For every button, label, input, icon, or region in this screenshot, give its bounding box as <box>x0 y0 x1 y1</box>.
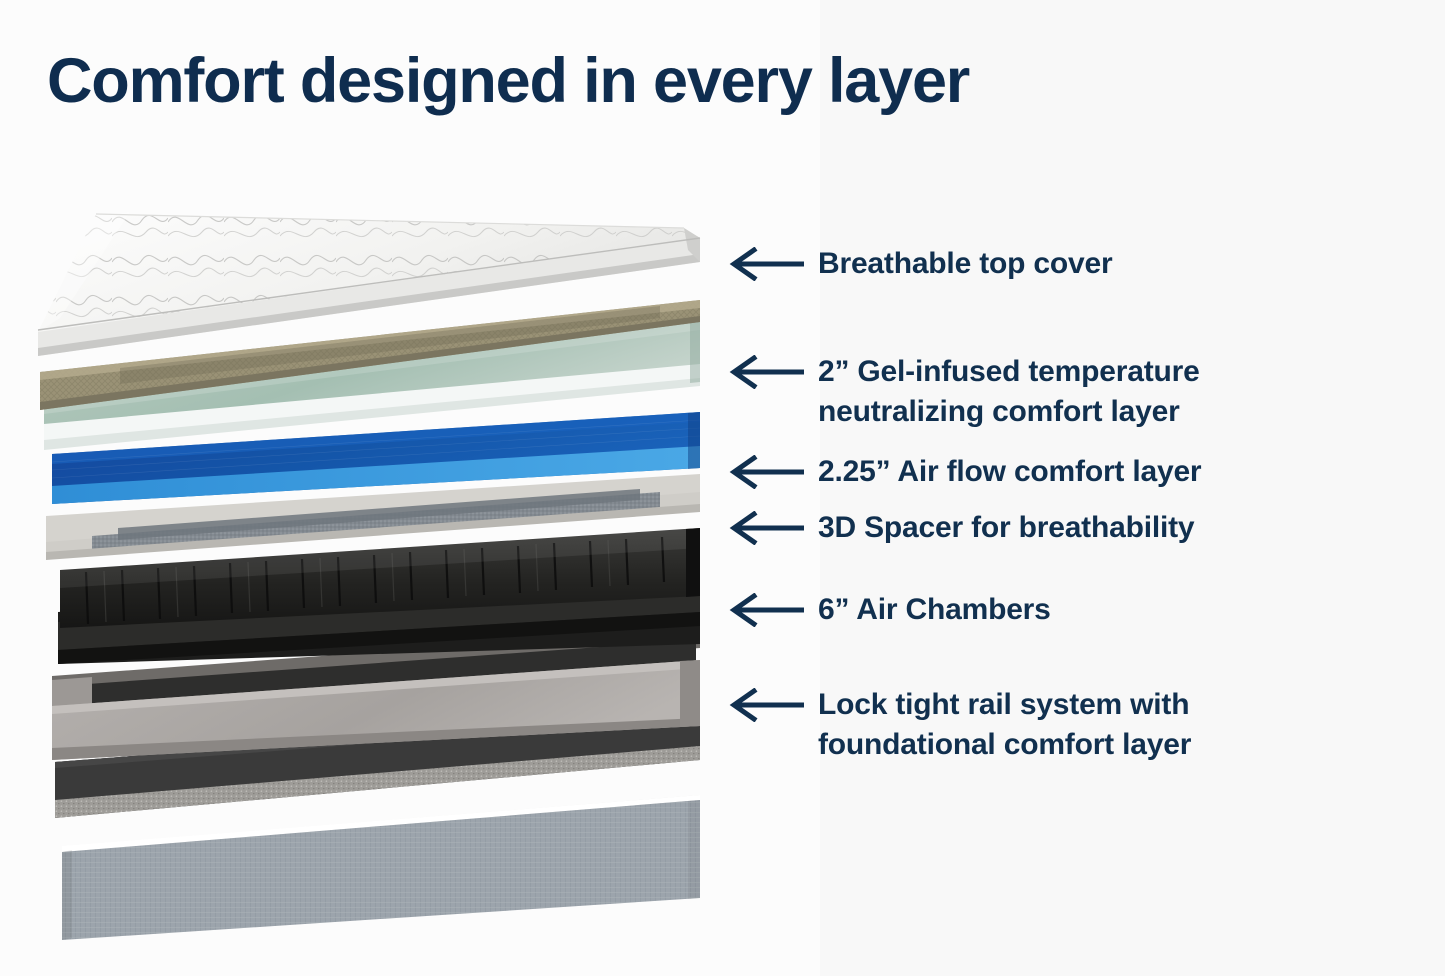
callout-label: 2.25” Air flow comfort layer <box>818 452 1201 492</box>
callout-label: 2” Gel-infused temperature neutralizing … <box>818 352 1200 432</box>
callout-lock-tight-rail-system: Lock tight rail system with foundational… <box>728 685 1191 765</box>
mattress-exploded-diagram <box>0 0 760 976</box>
arrow-left-icon <box>728 688 806 722</box>
callout-label: Lock tight rail system with foundational… <box>818 685 1191 765</box>
arrow-left-icon <box>728 247 806 281</box>
callout-air-flow-comfort-layer: 2.25” Air flow comfort layer <box>728 452 1201 492</box>
arrow-left-icon <box>728 511 806 545</box>
callout-breathable-top-cover: Breathable top cover <box>728 244 1112 284</box>
layer-base-foundation <box>62 795 700 940</box>
arrow-left-icon <box>728 593 806 627</box>
illustration-page: Comfort designed in every layer <box>0 0 1445 976</box>
arrow-left-icon <box>728 455 806 489</box>
callout-label: Breathable top cover <box>818 244 1112 284</box>
callout-3d-spacer: 3D Spacer for breathability <box>728 508 1194 548</box>
callout-label: 3D Spacer for breathability <box>818 508 1194 548</box>
callout-label: 6” Air Chambers <box>818 590 1051 630</box>
callout-gel-infused-comfort-layer: 2” Gel-infused temperature neutralizing … <box>728 352 1200 432</box>
arrow-left-icon <box>728 355 806 389</box>
callout-air-chambers: 6” Air Chambers <box>728 590 1051 630</box>
